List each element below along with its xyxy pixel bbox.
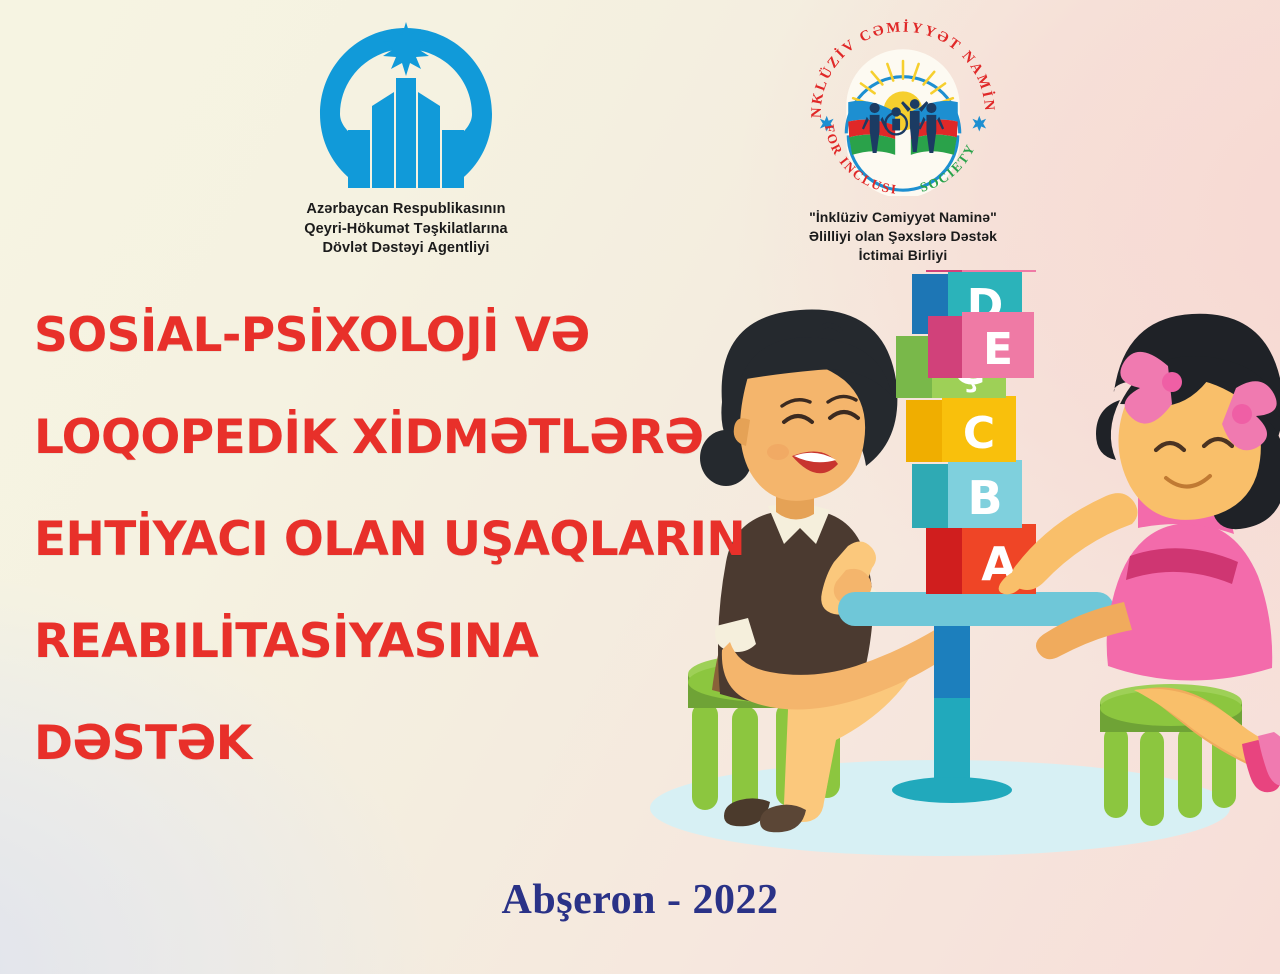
right-org-line-1: "İnklüziv Cəmiyyət Naminə" bbox=[758, 208, 1048, 227]
place-and-year: Abşeron - 2022 bbox=[0, 876, 1280, 924]
poster-canvas: Azərbaycan Respublikasının Qeyri-Hökumət… bbox=[0, 0, 1280, 974]
left-org-line-3: Dövlət Dəstəyi Agentliyi bbox=[196, 239, 616, 259]
right-organisation-block: İNKLÜZİV CƏMİYYƏT NAMİNƏ FOR INCLUSIVE S… bbox=[758, 18, 1048, 265]
right-organisation-caption: "İnklüziv Cəmiyyət Naminə" Əlilliyi olan… bbox=[758, 208, 1048, 265]
right-org-line-2: Əlilliyi olan Şəxslərə Dəstək bbox=[758, 227, 1048, 246]
poster-title: SOSİAL-PSİXOLOJİ VƏ LOQOPEDİK XİDMƏTLƏRƏ… bbox=[34, 312, 734, 767]
block-letter-E: E bbox=[983, 324, 1013, 375]
block-letter-B: B bbox=[967, 471, 1002, 525]
title-line-5: DƏSTƏK bbox=[34, 720, 734, 767]
right-org-line-3: İctimai Birliyi bbox=[758, 246, 1048, 265]
title-line-1: SOSİAL-PSİXOLOJİ VƏ bbox=[34, 312, 734, 359]
title-line-2: LOQOPEDİK XİDMƏTLƏRƏ bbox=[34, 414, 734, 461]
title-line-3: EHTİYACI OLAN UŞAQLARIN bbox=[34, 516, 734, 563]
block-E bbox=[926, 270, 1036, 272]
azerbaijan-ngo-agency-icon bbox=[306, 18, 506, 194]
block-E-top: E bbox=[920, 310, 1050, 390]
left-organisation-block: Azərbaycan Respublikasının Qeyri-Hökumət… bbox=[196, 18, 616, 259]
girl-dress bbox=[1107, 523, 1273, 680]
table-base bbox=[892, 777, 1012, 803]
title-line-4: REABILİTASİYASINA bbox=[34, 618, 734, 665]
block-C: C bbox=[906, 396, 1016, 462]
table-leg-lower bbox=[934, 698, 970, 788]
left-organisation-caption: Azərbaycan Respublikasının Qeyri-Hökumət… bbox=[196, 200, 616, 259]
inclusive-society-emblem-icon: İNKLÜZİV CƏMİYYƏT NAMİNƏ FOR INCLUSIVE S… bbox=[805, 18, 1001, 196]
left-org-line-2: Qeyri-Hökumət Təşkilatlarına bbox=[196, 220, 616, 240]
block-B: B bbox=[912, 460, 1022, 528]
block-letter-C: C bbox=[963, 408, 995, 459]
table-leg-upper bbox=[934, 618, 970, 698]
left-org-line-1: Azərbaycan Respublikasının bbox=[196, 200, 616, 220]
girl-figure bbox=[999, 314, 1280, 826]
